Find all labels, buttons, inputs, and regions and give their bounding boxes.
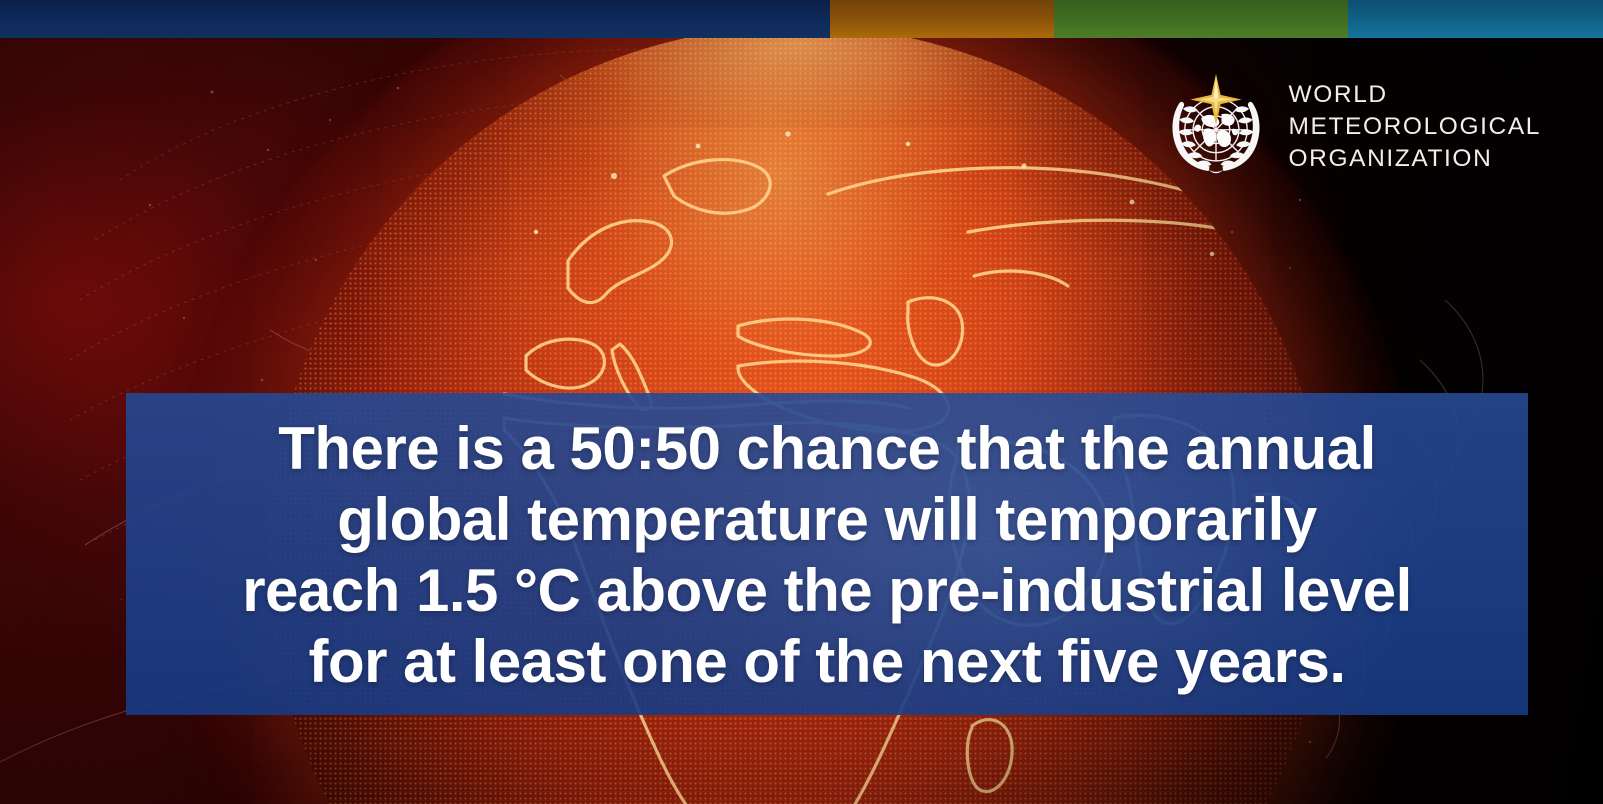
wmo-line-1: WORLD [1289, 79, 1541, 111]
top-color-bar [0, 0, 1603, 38]
wmo-logo: WORLD METEOROLOGICAL ORGANIZATION [1161, 72, 1541, 182]
caption-text: There is a 50:50 chance that the annual … [154, 414, 1500, 697]
caption-line-1: There is a 50:50 chance that the annual [154, 414, 1500, 485]
caption-line-4: for at least one of the next five years. [154, 627, 1500, 698]
wmo-emblem-icon [1161, 72, 1271, 182]
caption-line-3: reach 1.5 °C above the pre-industrial le… [154, 556, 1500, 627]
caption-line-2: global temperature will temporarily [154, 485, 1500, 556]
wmo-logo-text: WORLD METEOROLOGICAL ORGANIZATION [1289, 79, 1541, 176]
topbar-segment-teal [1348, 0, 1603, 38]
star-icon [1190, 74, 1241, 125]
wmo-line-2: METEOROLOGICAL [1289, 111, 1541, 143]
wmo-line-3: ORGANIZATION [1289, 143, 1541, 175]
topbar-segment-blue [0, 0, 830, 38]
topbar-segment-green [1054, 0, 1348, 38]
video-frame: WORLD METEOROLOGICAL ORGANIZATION There … [0, 0, 1603, 804]
caption-panel: There is a 50:50 chance that the annual … [126, 393, 1528, 715]
topbar-segment-orange [830, 0, 1054, 38]
